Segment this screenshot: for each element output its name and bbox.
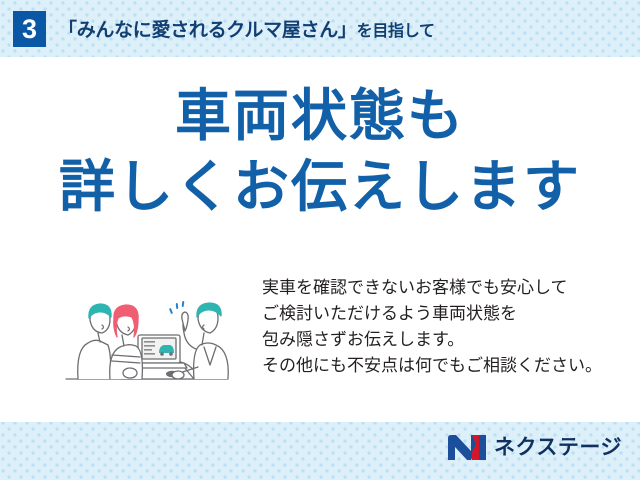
header-title: 「みんなに愛されるクルマ屋さん」を目指して xyxy=(58,15,435,42)
body-copy-line: 包み隠さずお伝えします。 xyxy=(262,327,622,353)
header-title-tail: を目指して xyxy=(357,23,435,40)
content-panel: 車両状態も 詳しくお伝えします xyxy=(0,57,640,422)
body-copy-line: その他にも不安点は何でもご相談ください。 xyxy=(262,353,622,379)
bottom-row: 実車を確認できないお客様でも安心して ご検討いただけるよう車両状態を 包み隠さず… xyxy=(0,275,640,415)
body-copy: 実車を確認できないお客様でも安心して ご検討いただけるよう車両状態を 包み隠さず… xyxy=(262,275,622,379)
promotional-banner: 3 「みんなに愛されるクルマ屋さん」を目指して 車両状態も 詳しくお伝えします xyxy=(0,0,640,480)
body-copy-line: 実車を確認できないお客様でも安心して xyxy=(262,275,622,301)
body-copy-line: ご検討いただけるよう車両状態を xyxy=(262,301,622,327)
nextage-logo: ネクステージ xyxy=(447,434,622,461)
consultation-illustration-svg xyxy=(52,275,242,387)
nextage-n-logo-icon xyxy=(447,434,487,461)
headline-line-2: 詳しくお伝えします xyxy=(0,156,640,219)
headline-line-1: 車両状態も xyxy=(0,85,640,148)
spark-marks xyxy=(169,301,184,314)
banner-footer: ネクステージ xyxy=(0,422,640,480)
header-title-main: 「みんなに愛されるクルマ屋さん」 xyxy=(58,20,357,41)
headline: 車両状態も 詳しくお伝えします xyxy=(0,85,640,218)
step-number-badge: 3 xyxy=(13,11,46,47)
nextage-logo-text: ネクステージ xyxy=(494,434,622,461)
banner-header: 3 「みんなに愛されるクルマ屋さん」を目指して xyxy=(0,0,640,57)
consultation-illustration xyxy=(52,275,242,387)
